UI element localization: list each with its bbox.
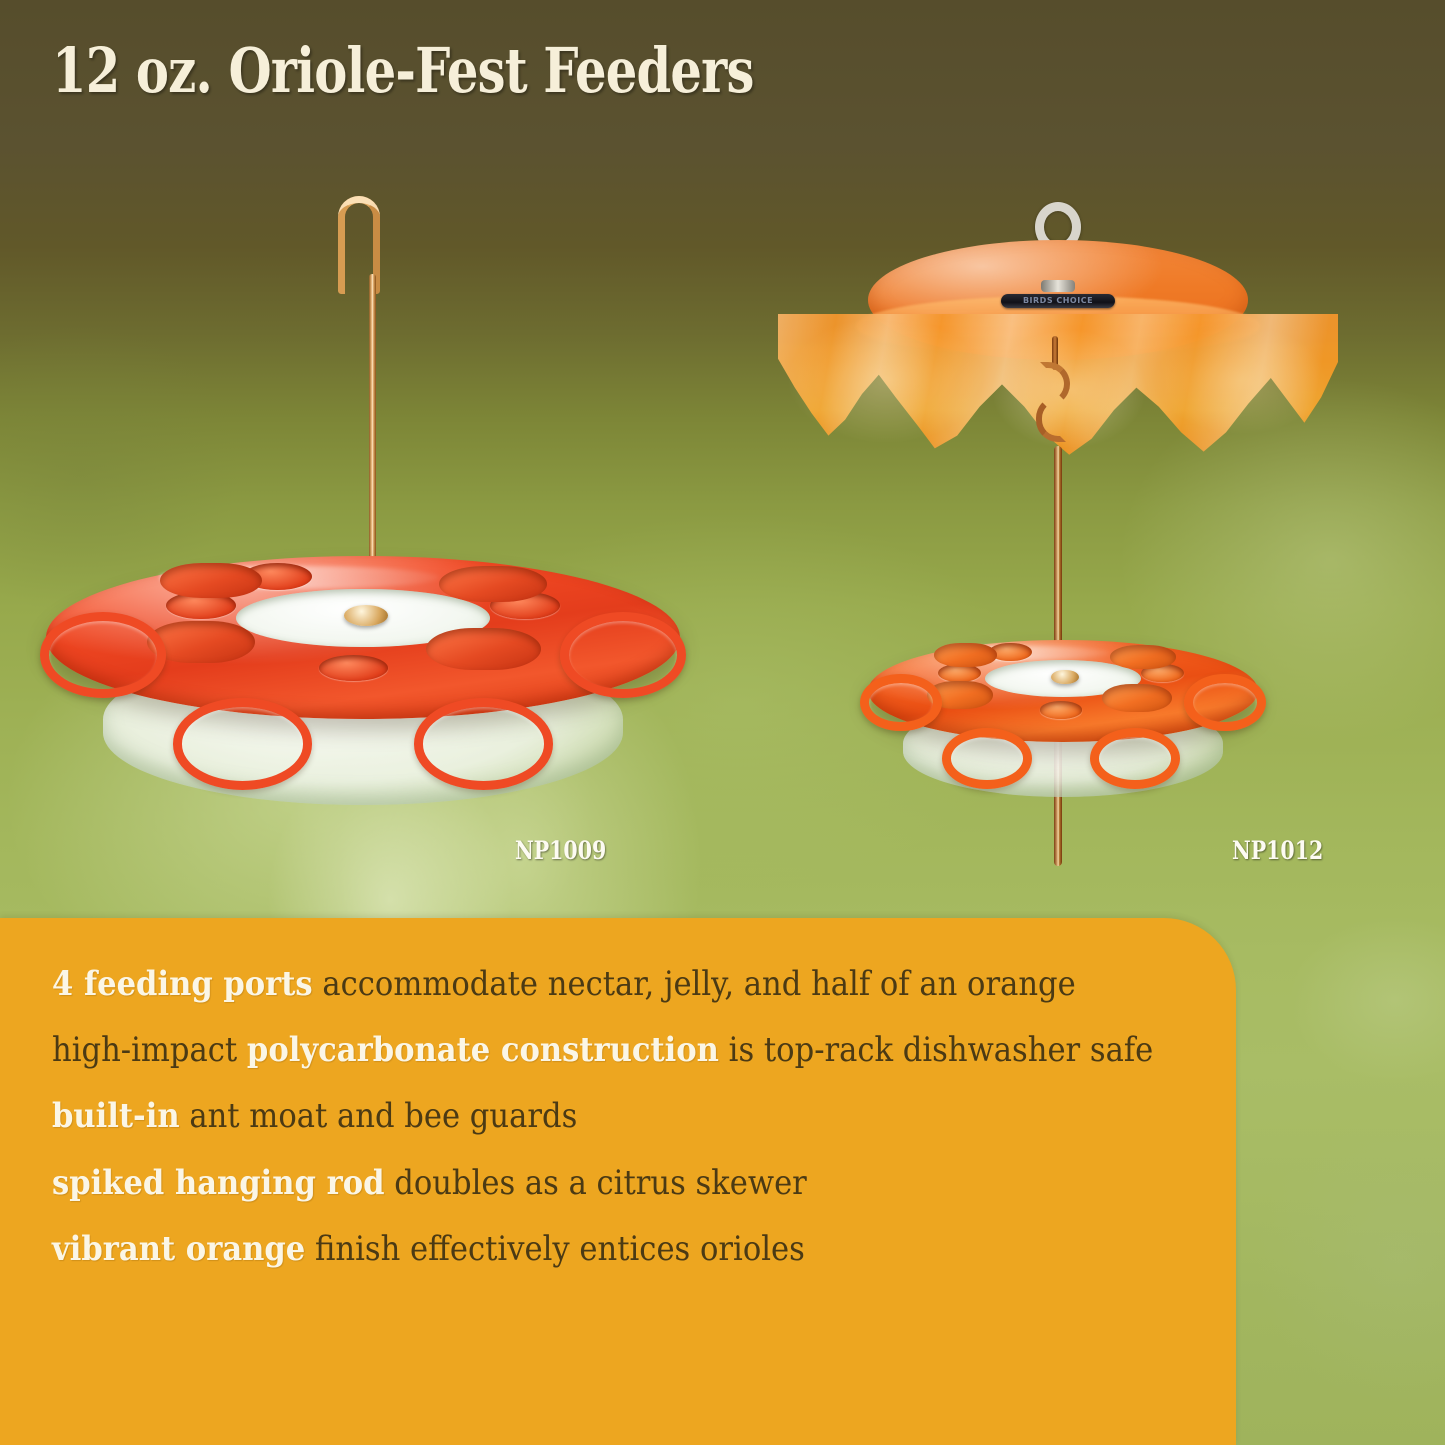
perch-handle-front-right [1090, 728, 1180, 789]
feature-item: built-in ant moat and bee guards [52, 1094, 1161, 1138]
jelly-bay [426, 628, 540, 670]
features-list: 4 feeding ports accommodate nectar, jell… [52, 962, 1162, 1293]
jelly-bay [160, 563, 261, 599]
feature-keyword: spiked hanging rod [52, 1163, 385, 1203]
feature-text: ant moat and bee guards [180, 1096, 578, 1136]
feature-prefix: high-impact [52, 1030, 247, 1070]
perch-handle-front-right [414, 698, 553, 789]
jelly-bay [1102, 684, 1172, 712]
jelly-bay [439, 566, 547, 602]
jelly-bay [1110, 645, 1176, 669]
feature-item: 4 feeding ports accommodate nectar, jell… [52, 962, 1161, 1006]
feature-item: spiked hanging rod doubles as a citrus s… [52, 1161, 1161, 1205]
page-title: 12 oz. Oriole-Fest Feeders [52, 34, 754, 107]
feature-item: vibrant orange finish effectively entice… [52, 1227, 1161, 1271]
rod-retaining-nut [1051, 670, 1078, 684]
perch-handle-front-left [942, 728, 1032, 789]
feature-text: accommodate nectar, jelly, and half of a… [313, 964, 1076, 1004]
perch-handle-right [1184, 674, 1266, 732]
weather-dome-baffle: BIRDS CHOICE [778, 196, 1338, 496]
brand-plate-text: BIRDS CHOICE [1001, 294, 1115, 308]
sku-label-np1009: NP1009 [515, 836, 606, 865]
rod-retaining-nut [344, 605, 388, 626]
perch-handle-front-left [173, 698, 312, 789]
feeding-port [1040, 701, 1083, 718]
feeder-dish-np1009 [46, 556, 680, 810]
features-panel: 4 feeding ports accommodate nectar, jell… [0, 918, 1236, 1445]
feature-keyword: 4 feeding ports [52, 964, 313, 1004]
feature-text: doubles as a citrus skewer [385, 1163, 807, 1203]
perch-handle-left [860, 674, 942, 732]
feature-keyword: polycarbonate construction [247, 1030, 719, 1070]
brand-plate: BIRDS CHOICE [1001, 294, 1115, 308]
feeding-port [319, 655, 389, 681]
citrus-skewer-hook-icon [1032, 336, 1076, 456]
hanger-collar [1041, 280, 1075, 292]
feature-item: high-impact polycarbonate construction i… [52, 1028, 1161, 1072]
perch-handle-right [560, 612, 687, 698]
feature-text: finish effectively entices orioles [305, 1229, 805, 1269]
feature-keyword: vibrant orange [52, 1229, 305, 1269]
hook-lower-curve [1036, 396, 1066, 442]
feature-keyword: built-in [52, 1096, 180, 1136]
feature-text: is top-rack dishwasher safe [719, 1030, 1153, 1070]
jelly-bay [934, 643, 996, 667]
feeder-dish-np1012 [868, 640, 1258, 800]
perch-handle-left [40, 612, 167, 698]
sku-label-np1012: NP1012 [1232, 836, 1323, 865]
